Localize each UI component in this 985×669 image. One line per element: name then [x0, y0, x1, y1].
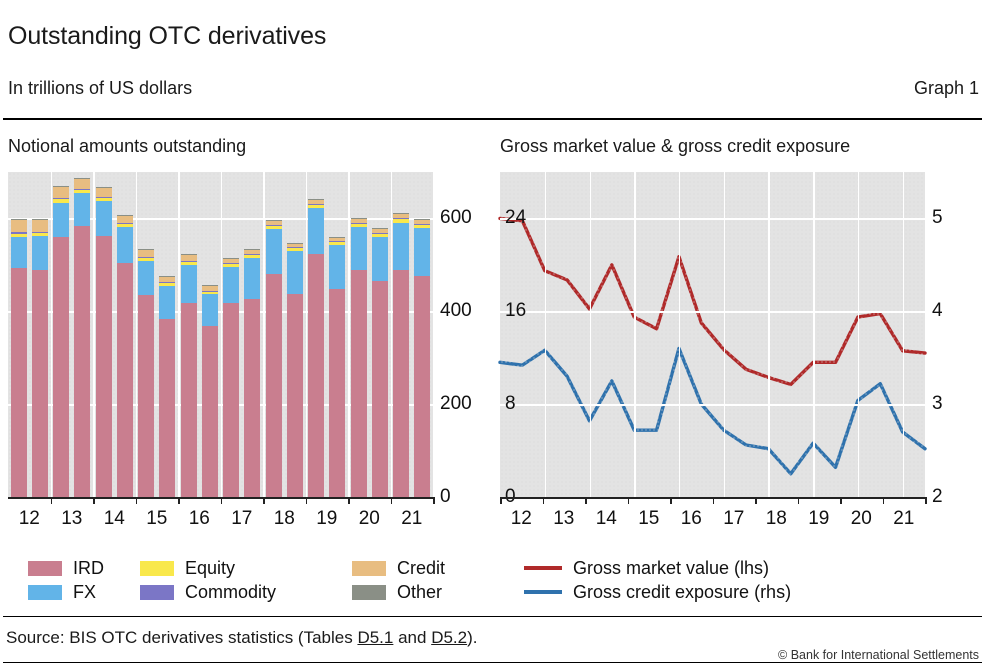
x-tick-mark: [840, 497, 842, 504]
page-subtitle: In trillions of US dollars: [8, 78, 192, 99]
stacked-bar: [117, 215, 133, 497]
x-tick-mark: [433, 497, 435, 504]
bar-segment-equity: [32, 233, 48, 236]
bar-segment-fx: [287, 251, 303, 294]
stacked-bar: [138, 249, 154, 497]
bar-segment-fx: [329, 245, 345, 289]
stacked-bar: [266, 220, 282, 497]
left-panel-title: Notional amounts outstanding: [8, 136, 246, 157]
x-tick-mark: [883, 497, 885, 504]
bar-segment-fx: [308, 208, 324, 254]
bar-segment-ird: [223, 303, 239, 497]
bar-segment-commodity: [159, 282, 175, 283]
bar-segment-commodity: [244, 254, 260, 255]
bar-segment-fx: [244, 258, 260, 298]
x-tick-mark: [585, 497, 587, 504]
x-tick-label: 16: [189, 508, 210, 530]
bar-segment-credit: [53, 187, 69, 198]
source-divider: [3, 616, 982, 617]
bar-segment-other: [414, 219, 430, 220]
bar-segment-fx: [96, 201, 112, 236]
stacked-bar: [287, 243, 303, 497]
gross-value-plot-area: [500, 172, 925, 497]
bar-segment-commodity: [96, 197, 112, 198]
bar-segment-ird: [244, 299, 260, 497]
bar-segment-equity: [138, 257, 154, 260]
source-prefix: Source: BIS OTC derivatives statistics (…: [6, 628, 357, 647]
bar-segment-other: [74, 178, 90, 179]
bar-segment-commodity: [11, 232, 27, 233]
legend-line-gross-market-value: [524, 566, 562, 570]
bar-segment-credit: [223, 259, 239, 263]
bar-segment-fx: [53, 203, 69, 237]
bar-segment-equity: [74, 190, 90, 193]
legend-swatch-other: [352, 585, 386, 600]
page-title: Outstanding OTC derivatives: [8, 22, 326, 51]
legend-item-commodity: Commodity: [140, 580, 276, 604]
x-tick-mark: [263, 497, 265, 504]
bar-segment-commodity: [117, 223, 133, 224]
x-tick-mark: [51, 497, 53, 504]
gridline-vertical: [391, 172, 393, 497]
bar-segment-fx: [202, 294, 218, 326]
bar-segment-ird: [351, 270, 367, 497]
legend-label: Commodity: [185, 582, 276, 603]
x-tick-mark: [306, 497, 308, 504]
stacked-bar: [202, 285, 218, 497]
gridline-vertical: [724, 172, 726, 497]
x-tick-label: 13: [553, 508, 574, 530]
legend-swatch-fx: [28, 585, 62, 600]
gridline-vertical: [306, 172, 308, 497]
bar-segment-credit: [96, 188, 112, 197]
bar-segment-commodity: [414, 224, 430, 225]
bar-segment-credit: [74, 179, 90, 189]
stacked-bar: [308, 199, 324, 497]
gridline-vertical: [768, 172, 770, 497]
bar-segment-other: [159, 276, 175, 277]
bar-segment-other: [181, 254, 197, 255]
x-tick-mark: [628, 497, 630, 504]
graph-page: Outstanding OTC derivatives In trillions…: [0, 0, 985, 669]
bar-segment-ird: [308, 254, 324, 497]
bar-segment-equity: [351, 224, 367, 227]
right-panel-title: Gross market value & gross credit exposu…: [500, 136, 850, 157]
bar-segment-credit: [414, 220, 430, 224]
x-tick-label: 19: [316, 508, 337, 530]
legend-label: Gross credit exposure (rhs): [573, 582, 791, 603]
bar-segment-fx: [351, 227, 367, 271]
bar-segment-commodity: [32, 232, 48, 233]
bar-segment-equity: [53, 199, 69, 202]
legend-item-other: Other: [352, 580, 445, 604]
bar-segment-commodity: [393, 218, 409, 219]
bar-segment-ird: [117, 263, 133, 497]
bar-segment-other: [351, 218, 367, 219]
gridline-vertical: [590, 172, 592, 497]
x-tick-mark: [543, 497, 545, 504]
x-tick-mark: [500, 497, 502, 504]
bar-segment-credit: [202, 286, 218, 291]
bar-segment-ird: [138, 295, 154, 497]
footer-divider: [3, 662, 982, 663]
bar-segment-fx: [372, 237, 388, 281]
gridline-vertical: [348, 172, 350, 497]
bar-segment-other: [96, 187, 112, 188]
y-tick-label-lhs: 16: [505, 300, 526, 322]
source-link-d52[interactable]: D5.2: [431, 628, 467, 647]
bar-segment-credit: [266, 221, 282, 225]
bar-segment-other: [53, 186, 69, 187]
gridline-vertical: [634, 172, 636, 497]
bar-segment-ird: [11, 268, 27, 497]
bar-segment-other: [393, 213, 409, 214]
legend-swatch-commodity: [140, 585, 174, 600]
x-tick-label: 14: [104, 508, 125, 530]
x-tick-mark: [755, 497, 757, 504]
gridline-vertical: [813, 172, 815, 497]
bar-segment-fx: [159, 286, 175, 319]
stacked-bar: [351, 218, 367, 498]
bar-segment-equity: [181, 262, 197, 265]
bar-segment-credit: [138, 250, 154, 257]
legend-column: CreditOther: [352, 556, 445, 604]
x-tick-mark: [93, 497, 95, 504]
legend-item-gross-credit-exposure: Gross credit exposure (rhs): [524, 580, 791, 604]
gridline-horizontal: [500, 404, 925, 406]
bar-segment-ird: [96, 236, 112, 497]
x-tick-label: 15: [146, 508, 167, 530]
x-tick-mark: [670, 497, 672, 504]
source-note: Source: BIS OTC derivatives statistics (…: [6, 628, 478, 648]
plot-dot-grid-right: [500, 172, 925, 497]
bar-segment-commodity: [53, 198, 69, 199]
bar-segment-credit: [329, 237, 345, 240]
bar-segment-fx: [223, 267, 239, 303]
bar-segment-other: [372, 228, 388, 229]
y-tick-label-rhs: 2: [932, 486, 943, 508]
right-panel-legend: Gross market value (lhs)Gross credit exp…: [524, 556, 791, 604]
bar-segment-fx: [74, 193, 90, 226]
x-tick-mark: [798, 497, 800, 504]
bar-segment-ird: [329, 289, 345, 497]
x-tick-label: 18: [766, 508, 787, 530]
bar-segment-credit: [159, 276, 175, 282]
y-tick-label: 0: [440, 486, 451, 508]
x-tick-mark: [925, 497, 927, 504]
x-tick-label: 17: [231, 508, 252, 530]
legend-item-credit: Credit: [352, 556, 445, 580]
gridline-vertical: [51, 172, 53, 497]
bar-segment-fx: [32, 236, 48, 270]
gridline-vertical: [93, 172, 95, 497]
bar-segment-equity: [287, 248, 303, 251]
source-mid: and: [393, 628, 431, 647]
bar-segment-commodity: [181, 261, 197, 262]
stacked-bar: [96, 187, 112, 497]
bar-segment-ird: [53, 237, 69, 497]
stacked-bar: [223, 258, 239, 497]
x-tick-label: 12: [19, 508, 40, 530]
y-tick-label-rhs: 3: [932, 393, 943, 415]
bar-segment-equity: [393, 219, 409, 222]
legend-label: Equity: [185, 558, 235, 579]
bar-segment-fx: [11, 237, 27, 268]
x-tick-label: 20: [851, 508, 872, 530]
bar-segment-commodity: [287, 247, 303, 248]
y-tick-label-rhs: 4: [932, 300, 943, 322]
legend-item-equity: Equity: [140, 556, 276, 580]
x-tick-label: 19: [808, 508, 829, 530]
bar-segment-commodity: [138, 257, 154, 258]
bar-segment-other: [11, 219, 27, 220]
bar-segment-ird: [266, 274, 282, 497]
bar-segment-equity: [96, 198, 112, 201]
gridline-vertical: [221, 172, 223, 497]
bar-segment-commodity: [266, 225, 282, 226]
bar-segment-ird: [181, 303, 197, 497]
source-link-d51[interactable]: D5.1: [357, 628, 393, 647]
x-tick-mark: [178, 497, 180, 504]
graph-number: Graph 1: [914, 78, 979, 99]
y-tick-label: 200: [440, 393, 472, 415]
gridline-vertical: [903, 172, 905, 497]
legend-column: IRDFX: [28, 556, 104, 604]
x-tick-label: 18: [274, 508, 295, 530]
bar-segment-commodity: [223, 263, 239, 264]
legend-swatch-ird: [28, 561, 62, 576]
gridline-horizontal: [500, 311, 925, 313]
bar-segment-equity: [159, 283, 175, 286]
x-tick-mark: [391, 497, 393, 504]
y-tick-label: 400: [440, 300, 472, 322]
gridline-vertical: [263, 172, 265, 497]
bar-segment-commodity: [351, 223, 367, 224]
x-tick-label: 17: [723, 508, 744, 530]
stacked-bar: [244, 249, 260, 497]
bar-segment-equity: [202, 291, 218, 294]
stacked-bar: [414, 219, 430, 497]
x-tick-mark: [221, 497, 223, 504]
legend-label: IRD: [73, 558, 104, 579]
bar-segment-ird: [74, 226, 90, 497]
stacked-bar: [11, 219, 27, 497]
gridline-horizontal: [500, 218, 925, 220]
bar-segment-credit: [287, 244, 303, 248]
bar-segment-ird: [393, 270, 409, 497]
bar-segment-ird: [287, 294, 303, 497]
legend-item-gross-market-value: Gross market value (lhs): [524, 556, 791, 580]
bar-segment-credit: [308, 200, 324, 204]
bar-segment-fx: [117, 227, 133, 262]
bar-segment-equity: [117, 224, 133, 227]
bar-segment-other: [223, 258, 239, 259]
bar-segment-ird: [32, 270, 48, 497]
bar-segment-equity: [244, 255, 260, 258]
x-tick-mark: [713, 497, 715, 504]
bar-segment-other: [266, 220, 282, 221]
bar-segment-other: [244, 249, 260, 250]
bar-segment-commodity: [74, 189, 90, 190]
bar-segment-equity: [11, 234, 27, 237]
y-tick-label-lhs: 8: [505, 393, 516, 415]
stacked-bar: [159, 276, 175, 497]
bar-segment-ird: [414, 276, 430, 497]
stacked-bar: [181, 254, 197, 497]
gridline-vertical: [858, 172, 860, 497]
gridline-vertical: [136, 172, 138, 497]
legend-label: FX: [73, 582, 96, 603]
bar-segment-commodity: [329, 241, 345, 242]
notional-amounts-plot-area: [8, 172, 433, 497]
legend-label: Gross market value (lhs): [573, 558, 769, 579]
bar-segment-other: [308, 199, 324, 200]
bar-segment-ird: [372, 281, 388, 497]
bar-segment-ird: [159, 319, 175, 497]
legend-label: Credit: [397, 558, 445, 579]
x-tick-label: 20: [359, 508, 380, 530]
bar-segment-credit: [32, 220, 48, 232]
bar-segment-fx: [266, 229, 282, 274]
stacked-bar: [74, 178, 90, 497]
x-tick-label: 21: [893, 508, 914, 530]
bar-segment-ird: [202, 326, 218, 497]
gridline-vertical: [545, 172, 547, 497]
x-tick-label: 14: [596, 508, 617, 530]
legend-item-ird: IRD: [28, 556, 104, 580]
legend-swatch-equity: [140, 561, 174, 576]
legend-line-gross-credit-exposure: [524, 590, 562, 594]
bar-segment-equity: [329, 242, 345, 245]
bar-segment-credit: [244, 250, 260, 254]
source-suffix: ).: [467, 628, 477, 647]
x-tick-mark: [136, 497, 138, 504]
x-tick-label: 13: [61, 508, 82, 530]
stacked-bar: [372, 228, 388, 497]
bar-segment-equity: [223, 264, 239, 267]
legend-swatch-credit: [352, 561, 386, 576]
stacked-bar: [393, 213, 409, 497]
x-tick-mark: [348, 497, 350, 504]
bar-segment-fx: [393, 223, 409, 271]
bar-segment-commodity: [372, 233, 388, 234]
bar-segment-other: [117, 215, 133, 216]
x-tick-label: 16: [681, 508, 702, 530]
bar-segment-other: [32, 219, 48, 220]
bar-segment-equity: [372, 234, 388, 237]
y-tick-label-rhs: 5: [932, 207, 943, 229]
gridline-vertical: [679, 172, 681, 497]
x-tick-label: 12: [511, 508, 532, 530]
x-tick-label: 15: [638, 508, 659, 530]
bar-segment-credit: [181, 255, 197, 261]
bar-segment-other: [287, 243, 303, 244]
bar-segment-equity: [414, 225, 430, 228]
bar-segment-credit: [372, 229, 388, 233]
stacked-bar: [32, 219, 48, 497]
bar-segment-other: [202, 285, 218, 286]
bar-segment-fx: [138, 261, 154, 295]
copyright-note: © Bank for International Settlements: [778, 648, 979, 662]
bar-segment-fx: [414, 228, 430, 276]
bar-segment-commodity: [308, 204, 324, 205]
stacked-bar: [53, 186, 69, 497]
stacked-bar: [329, 237, 345, 497]
gridline-vertical: [178, 172, 180, 497]
bar-segment-equity: [266, 226, 282, 229]
y-tick-label-lhs: 24: [505, 207, 526, 229]
bar-segment-other: [329, 237, 345, 238]
y-tick-label: 600: [440, 207, 472, 229]
x-tick-label: 21: [401, 508, 422, 530]
bar-segment-equity: [308, 205, 324, 208]
bar-segment-fx: [181, 265, 197, 303]
legend-column: EquityCommodity: [140, 556, 276, 604]
bar-segment-credit: [11, 220, 27, 233]
bar-segment-other: [138, 249, 154, 250]
legend-item-fx: FX: [28, 580, 104, 604]
header-divider: [3, 118, 982, 120]
bar-segment-credit: [351, 218, 367, 222]
legend-label: Other: [397, 582, 442, 603]
bar-segment-credit: [117, 216, 133, 223]
bar-segment-credit: [393, 214, 409, 218]
